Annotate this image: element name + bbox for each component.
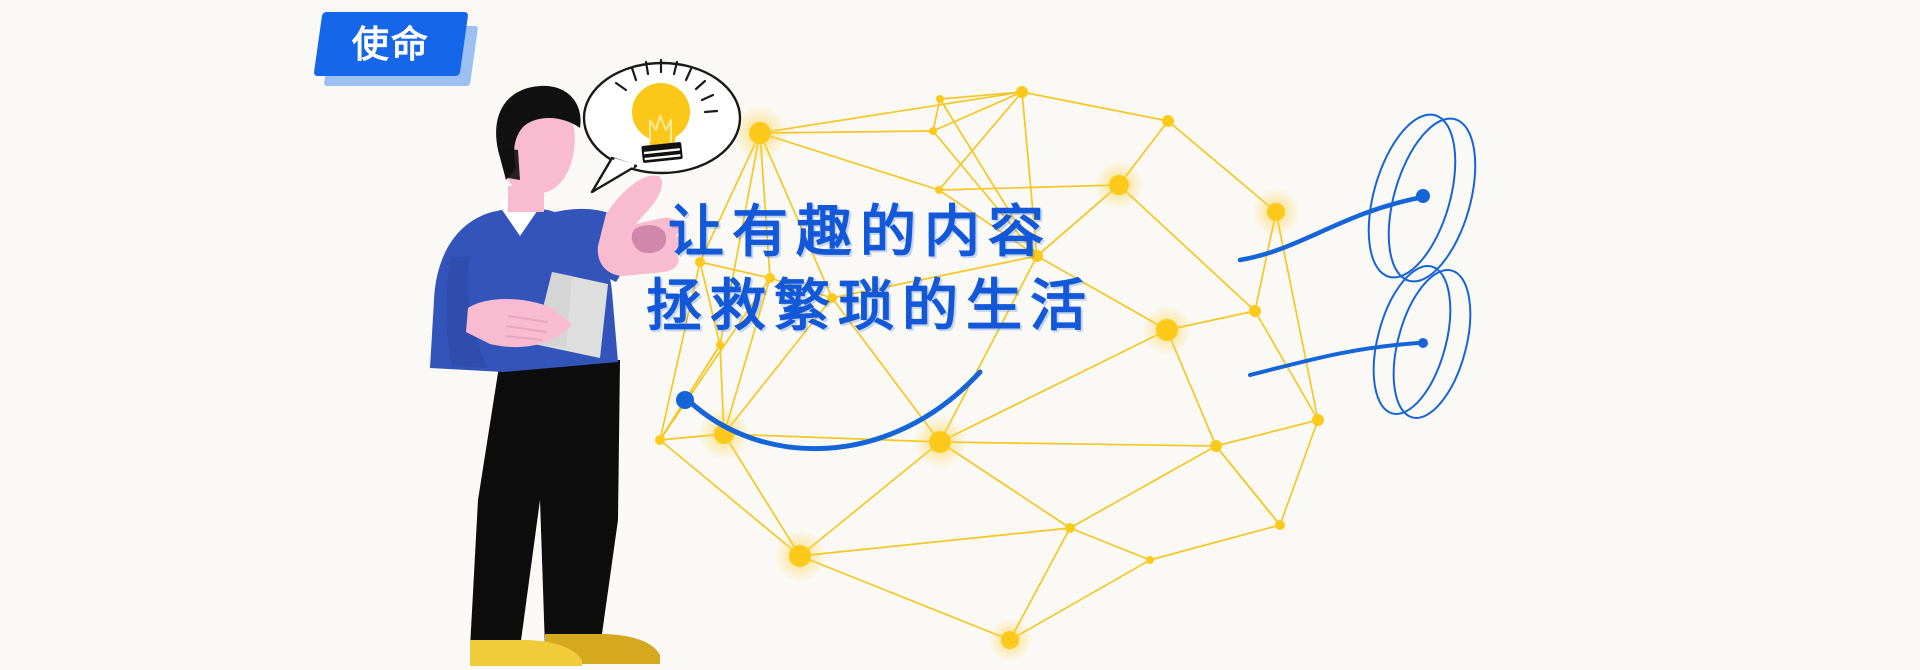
banner-canvas: 使命 让有趣的内容 拯救繁琐的生活 [0, 0, 1920, 670]
speech-bubble-lightbulb [0, 0, 1920, 670]
lightbulb-glass [632, 83, 690, 141]
